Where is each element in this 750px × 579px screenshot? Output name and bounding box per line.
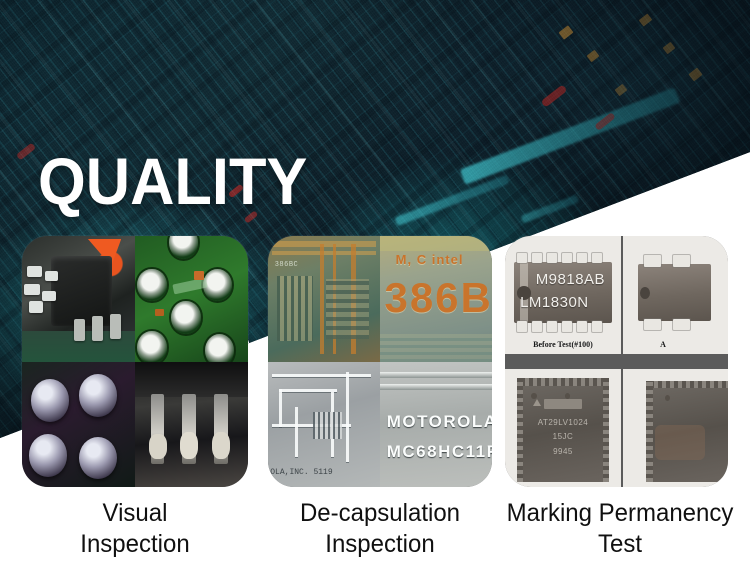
plcc-lead-row — [646, 381, 728, 388]
pane-motorola-die-marking: MOTOROLA MC68HC11F — [380, 362, 492, 488]
title-line-1: QUALITY — [38, 152, 427, 210]
solder-residue — [173, 278, 208, 295]
pane-soldered-ic-closeup — [22, 236, 135, 362]
ic-lead — [74, 319, 85, 342]
pane-dip14-before-test: M9818AB LM1830N Before Test(#100) — [505, 236, 621, 354]
caption-line-1: De-capsulation — [263, 498, 497, 529]
caption-marking-permanency-test: Marking Permanency Test — [500, 498, 740, 560]
marking-smear — [655, 425, 705, 459]
motorola-brand-text: MOTOROLA — [387, 412, 492, 432]
after-test-label: A — [611, 340, 716, 349]
plcc-package: AT29LV1024 15JC 9945 — [517, 378, 610, 482]
plcc-lead-row — [646, 381, 653, 482]
die-transistor-block — [313, 412, 342, 440]
ic-body — [51, 256, 112, 326]
ic-pin — [24, 284, 40, 295]
plcc-lead-row — [517, 378, 523, 482]
solder-ball — [29, 434, 67, 477]
solder-joint — [212, 432, 230, 460]
motorola-part-number: MC68HC11F — [387, 442, 492, 462]
die-trace — [346, 372, 349, 462]
pane-green-pcb-solder-pads — [135, 236, 248, 362]
pane-die-interconnect: OLA,INC. 5119 — [268, 362, 380, 488]
ic-lead — [110, 314, 121, 339]
ic-pin — [29, 301, 44, 312]
copper-fleck — [155, 309, 164, 317]
intel-logo-text: M, C intel — [396, 252, 464, 267]
caption-line-1: Visual — [15, 498, 255, 529]
pin1-dot — [640, 287, 650, 299]
ic-pin — [27, 266, 43, 277]
caption-de-capsulation-inspection: De-capsulation Inspection — [263, 498, 497, 560]
plcc-lead-row — [517, 378, 610, 385]
solder-ball — [31, 379, 69, 422]
caption-line-2: Inspection — [263, 529, 497, 560]
die-logic-array — [277, 276, 313, 341]
die-label: 386BC — [275, 261, 299, 269]
card-marking-permanency-test[interactable]: M9818AB LM1830N Before Test(#100) A — [505, 236, 728, 487]
pane-dip8-after-test: A — [623, 236, 728, 354]
die-lower-band — [380, 334, 492, 362]
pane-die-metal-layers: 386BC — [268, 236, 380, 362]
solder-pad — [137, 269, 166, 302]
caption-line-2: Inspection — [15, 529, 255, 560]
dip-lead — [532, 253, 542, 264]
warning-triangle-icon — [533, 399, 541, 406]
die-bus-vertical — [320, 244, 324, 354]
dip-lead — [562, 321, 572, 332]
dip-lead — [532, 321, 542, 332]
intel-part-number: 386B — [384, 274, 492, 322]
solder-pad — [137, 331, 166, 361]
solder-ball — [79, 374, 117, 417]
caption-line-2: Test — [500, 529, 740, 560]
solder-pad — [169, 236, 198, 259]
die-rail — [380, 384, 492, 390]
dip-lead — [644, 255, 661, 267]
caption-visual-inspection: Visual Inspection — [15, 498, 255, 560]
die-bus-horizontal — [272, 251, 375, 255]
atmel-logo — [544, 399, 581, 408]
die-rail — [380, 372, 492, 378]
dip-lead — [644, 319, 661, 331]
pane-plcc-atmel-chip: AT29LV1024 15JC 9945 — [505, 369, 621, 487]
dip-lead — [592, 253, 602, 264]
dip-lead — [577, 321, 587, 332]
copper-fleck — [194, 271, 204, 280]
dip-lead — [547, 253, 557, 264]
dip-lead — [673, 319, 690, 331]
pane-plcc-chip-side — [623, 369, 728, 487]
pane-intel-die-marking: M, C intel 386B — [380, 236, 492, 362]
plcc-date-code: 9945 — [517, 447, 610, 456]
plcc-lead-row — [603, 378, 609, 482]
die-trace — [279, 389, 337, 392]
ic-pin — [45, 271, 59, 281]
ic-pin — [42, 291, 56, 301]
dip-lead — [562, 253, 572, 264]
dip-lead — [547, 321, 557, 332]
dip-lead — [673, 255, 690, 267]
dip8-package — [638, 264, 711, 321]
die-trace — [272, 374, 371, 377]
card-visual-inspection[interactable] — [22, 236, 248, 487]
dip-lead — [517, 321, 527, 332]
dip-lead — [592, 321, 602, 332]
solder-ball — [79, 437, 117, 480]
ic-lead — [92, 316, 103, 341]
die-logic-array — [326, 279, 369, 339]
dip-marking-line1: M9818AB — [536, 271, 605, 288]
dip-lead — [577, 253, 587, 264]
dip14-package: M9818AB LM1830N — [514, 262, 611, 323]
card-de-capsulation-inspection[interactable]: 386BC M, C intel 386B OLA,INC. 5119 MOTO… — [268, 236, 492, 487]
plcc-speed-grade: 15JC — [517, 432, 610, 441]
dip-lead — [517, 253, 527, 264]
die-trace — [279, 389, 282, 427]
solder-pad — [171, 301, 200, 334]
pane-solder-ball-closeup — [22, 362, 135, 488]
die-edge-band — [380, 236, 492, 251]
component-body — [135, 362, 248, 397]
pane-component-leads-closeup — [135, 362, 248, 488]
die-bus-horizontal — [272, 241, 375, 247]
die-label: OLA,INC. 5119 — [270, 468, 332, 477]
plcc-package — [646, 381, 728, 482]
plcc-part-number: AT29LV1024 — [517, 418, 610, 427]
solder-joint — [149, 434, 167, 459]
before-test-label: Before Test(#100) — [505, 340, 621, 349]
plcc-pin1-nub — [665, 395, 670, 401]
solder-pad — [205, 334, 234, 362]
dip-marking-line2: LM1830N — [520, 294, 589, 311]
solder-joint — [180, 432, 198, 460]
die-trace — [295, 407, 298, 457]
caption-line-1: Marking Permanency — [500, 498, 740, 529]
